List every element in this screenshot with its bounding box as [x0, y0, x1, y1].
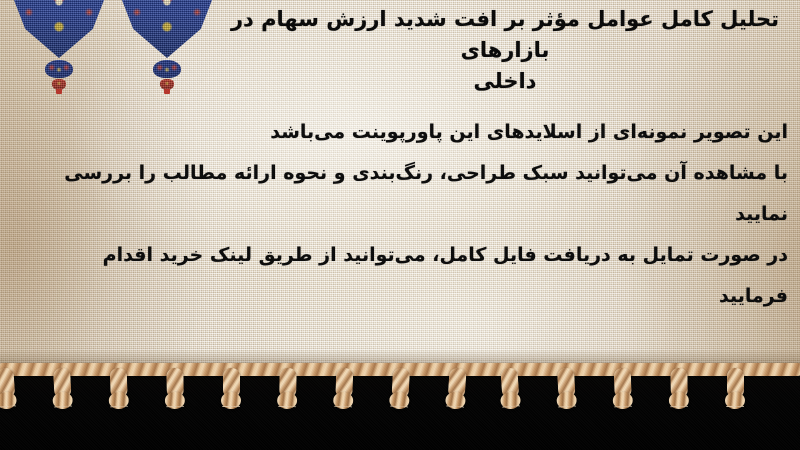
fringe-tassel [220, 368, 242, 446]
slide-canvas: تحلیل کامل عوامل مؤثر بر افت شدید ارزش س… [0, 0, 800, 450]
tassel-strands [555, 405, 581, 448]
fringe-tassel [107, 368, 132, 447]
tassel-strands [385, 405, 411, 448]
fringe-tassel [724, 368, 746, 446]
fringe-tassel [331, 368, 356, 447]
body-line-2: با مشاهده آن می‌توانید سبک طراحی، رنگ‌بن… [30, 153, 788, 235]
body-line-1: این تصویر نمونه‌ای از اسلایدهای این پاور… [30, 112, 788, 153]
fringe-tassel [554, 367, 580, 446]
slide-title: تحلیل کامل عوامل مؤثر بر افت شدید ارزش س… [222, 4, 788, 97]
tassel-strands [219, 406, 243, 448]
slide-body-text: این تصویر نمونه‌ای از اسلایدهای این پاور… [30, 112, 788, 317]
tassel-strands [51, 405, 77, 448]
tassel-strands [330, 406, 355, 449]
fringe-tassel [50, 367, 76, 446]
tassel-strands [611, 406, 636, 449]
slide-title-line-2: داخلی [222, 66, 788, 97]
slide-title-line-1: تحلیل کامل عوامل مؤثر بر افت شدید ارزش س… [222, 4, 788, 66]
fringe-tassel [386, 367, 412, 446]
fringe-tassel [667, 368, 690, 446]
fringe-tassel [163, 368, 186, 446]
body-line-3: در صورت تمایل به دریافت فایل کامل، می‌تو… [30, 235, 788, 317]
carpet-fringe-zone [0, 350, 800, 450]
tassel-strands [274, 406, 299, 448]
tassel-strands [163, 406, 188, 448]
fringe-tassel [611, 368, 636, 447]
tassel-strands [667, 406, 692, 448]
tassel-strands [499, 405, 526, 449]
fringe-tassel [275, 368, 298, 446]
tassel-strands [723, 406, 747, 448]
tassel-strands [440, 405, 467, 449]
tassel-strands [107, 406, 132, 449]
